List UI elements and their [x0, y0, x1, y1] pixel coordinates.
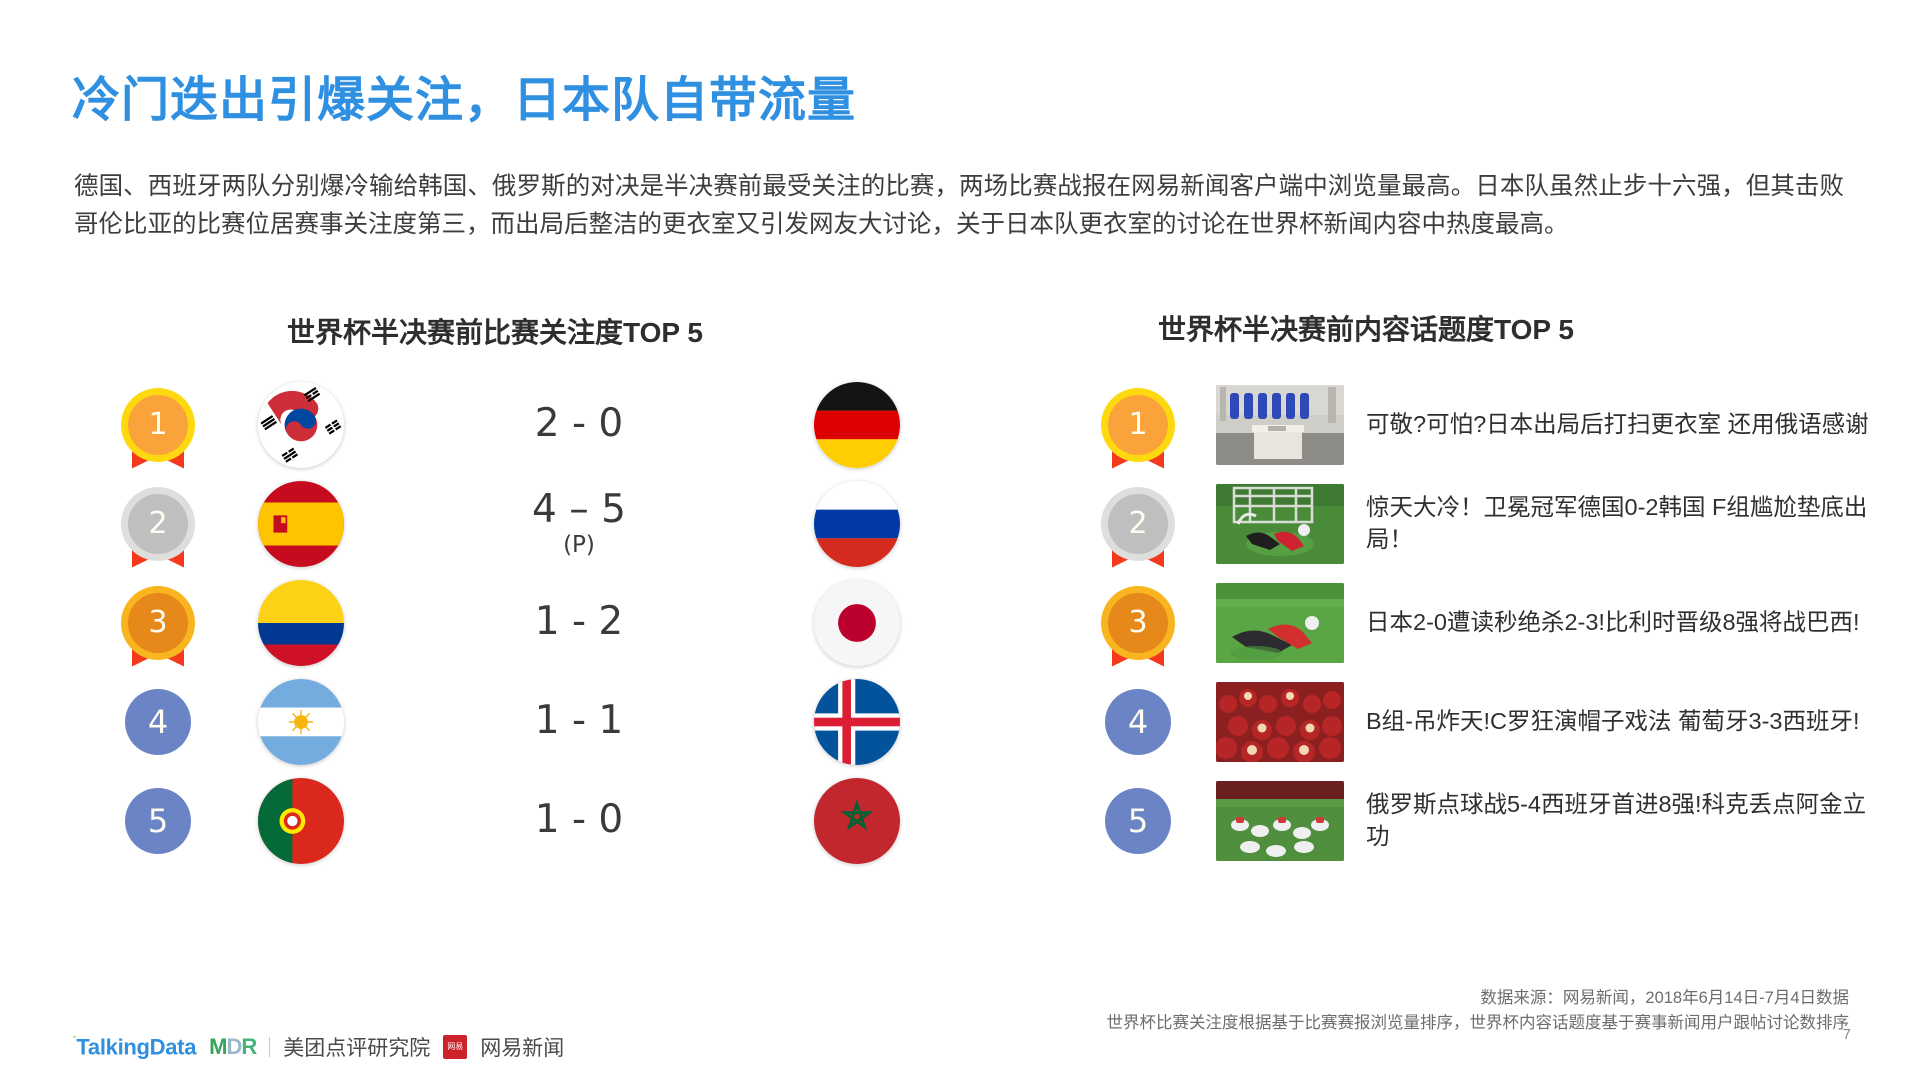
news-title: 惊天大冷！卫冕冠军德国0-2韩国 F组尴尬垫底出局！	[1366, 492, 1886, 556]
rank-badge: 4	[110, 674, 206, 770]
score-note: (P)	[352, 533, 806, 557]
rank-badge: 1	[110, 377, 206, 473]
news-thumbnail	[1216, 682, 1344, 762]
wangyi-mark-icon: 网易	[443, 1035, 467, 1059]
list-item[interactable]: 5	[1090, 771, 1890, 870]
talkingdata-logo: ˙TalkingData	[72, 1033, 196, 1060]
flag-colombia	[258, 580, 344, 666]
source-line-2: 世界杯比赛关注度根据基于比赛赛报浏览量排序，世界杯内容话题度基于赛事新闻用户跟帖…	[1107, 1011, 1850, 1036]
flag-russia	[814, 481, 900, 567]
rank-number: 2	[1108, 494, 1168, 554]
news-title: B组-吊炸天!C罗狂演帽子戏法 葡萄牙3-3西班牙!	[1366, 706, 1886, 738]
meituan-label: 美团点评研究院	[283, 1032, 430, 1062]
score-value: 4 – 5	[532, 487, 626, 532]
section-title-news: 世界杯半决赛前内容话题度TOP 5	[1158, 308, 1574, 348]
rank-number: 3	[128, 593, 188, 653]
match-score: 2 - 0	[344, 404, 814, 445]
list-item[interactable]: 1 可敬?可	[1090, 375, 1890, 474]
logo-bar: ˙TalkingData MDR 美团点评研究院 网易 网易新闻	[72, 1032, 564, 1062]
news-title: 可敬?可怕?日本出局后打扫更衣室 还用俄语感谢	[1366, 409, 1886, 441]
rank-badge: 2	[1090, 476, 1186, 572]
news-thumbnail	[1216, 781, 1344, 861]
news-list: 1 可敬?可	[1090, 375, 1890, 870]
flag-germany	[814, 382, 900, 468]
flag-spain	[258, 481, 344, 567]
rank-badge: 3	[1090, 575, 1186, 671]
wangyi-label: 网易新闻	[480, 1032, 564, 1062]
rank-number: 1	[1108, 395, 1168, 455]
score-value: 1 - 1	[535, 698, 624, 743]
rank-number: 4	[125, 689, 191, 755]
flag-iceland	[814, 679, 900, 765]
news-title: 俄罗斯点球战5-4西班牙首进8强!科克丢点阿金立功	[1366, 789, 1886, 853]
rank-number: 3	[1108, 593, 1168, 653]
flag-japan	[814, 580, 900, 666]
rank-badge: 2	[110, 476, 206, 572]
table-row: 2 4 – 5 (P)	[110, 474, 900, 573]
section-title-matches: 世界杯半决赛前比赛关注度TOP 5	[287, 311, 703, 351]
flag-argentina	[258, 679, 344, 765]
table-row: 1 2 - 0	[110, 375, 900, 474]
match-list: 1 2 - 0	[110, 375, 900, 870]
list-item[interactable]: 4	[1090, 672, 1890, 771]
table-row: 5 1 - 0	[110, 771, 900, 870]
match-score: 1 - 0	[344, 800, 814, 841]
rank-badge: 3	[110, 575, 206, 671]
news-thumbnail	[1216, 583, 1344, 663]
logo-divider	[269, 1037, 270, 1057]
score-value: 1 - 0	[535, 797, 624, 842]
table-row: 4 1 - 1	[110, 672, 900, 771]
flag-portugal	[258, 778, 344, 864]
table-row: 3 1 - 2	[110, 573, 900, 672]
rank-badge: 1	[1090, 377, 1186, 473]
flag-korea	[258, 382, 344, 468]
source-line-1: 数据来源：网易新闻，2018年6月14日-7月4日数据	[1107, 986, 1850, 1011]
rank-badge: 4	[1090, 674, 1186, 770]
rank-badge: 5	[1090, 773, 1186, 869]
score-value: 1 - 2	[535, 599, 624, 644]
rank-number: 4	[1105, 689, 1171, 755]
news-thumbnail	[1216, 385, 1344, 465]
score-value: 2 - 0	[535, 401, 624, 446]
match-score: 4 – 5 (P)	[344, 490, 814, 557]
source-note: 数据来源：网易新闻，2018年6月14日-7月4日数据 世界杯比赛关注度根据基于…	[1107, 986, 1850, 1036]
rank-number: 1	[128, 395, 188, 455]
rank-number: 2	[128, 494, 188, 554]
news-title: 日本2-0遭读秒绝杀2-3!比利时晋级8强将战巴西!	[1366, 607, 1886, 639]
list-item[interactable]: 2 惊天大冷！卫冕冠军德国0-2韩	[1090, 474, 1890, 573]
news-thumbnail	[1216, 484, 1344, 564]
match-score: 1 - 1	[344, 701, 814, 742]
list-item[interactable]: 3 日本2-0遭读秒绝杀2-3!比利时晋级8强将战巴西!	[1090, 573, 1890, 672]
rank-badge: 5	[110, 773, 206, 869]
page-title: 冷门迭出引爆关注，日本队自带流量	[72, 60, 856, 130]
match-score: 1 - 2	[344, 602, 814, 643]
flag-morocco	[814, 778, 900, 864]
slide-page: 冷门迭出引爆关注，日本队自带流量 德国、西班牙两队分别爆冷输给韩国、俄罗斯的对决…	[0, 0, 1921, 1080]
rank-number: 5	[1105, 788, 1171, 854]
mdr-logo: MDR	[209, 1034, 256, 1060]
intro-paragraph: 德国、西班牙两队分别爆冷输给韩国、俄罗斯的对决是半决赛前最受关注的比赛，两场比赛…	[74, 168, 1844, 244]
rank-number: 5	[125, 788, 191, 854]
page-number: 7	[1843, 1026, 1851, 1043]
